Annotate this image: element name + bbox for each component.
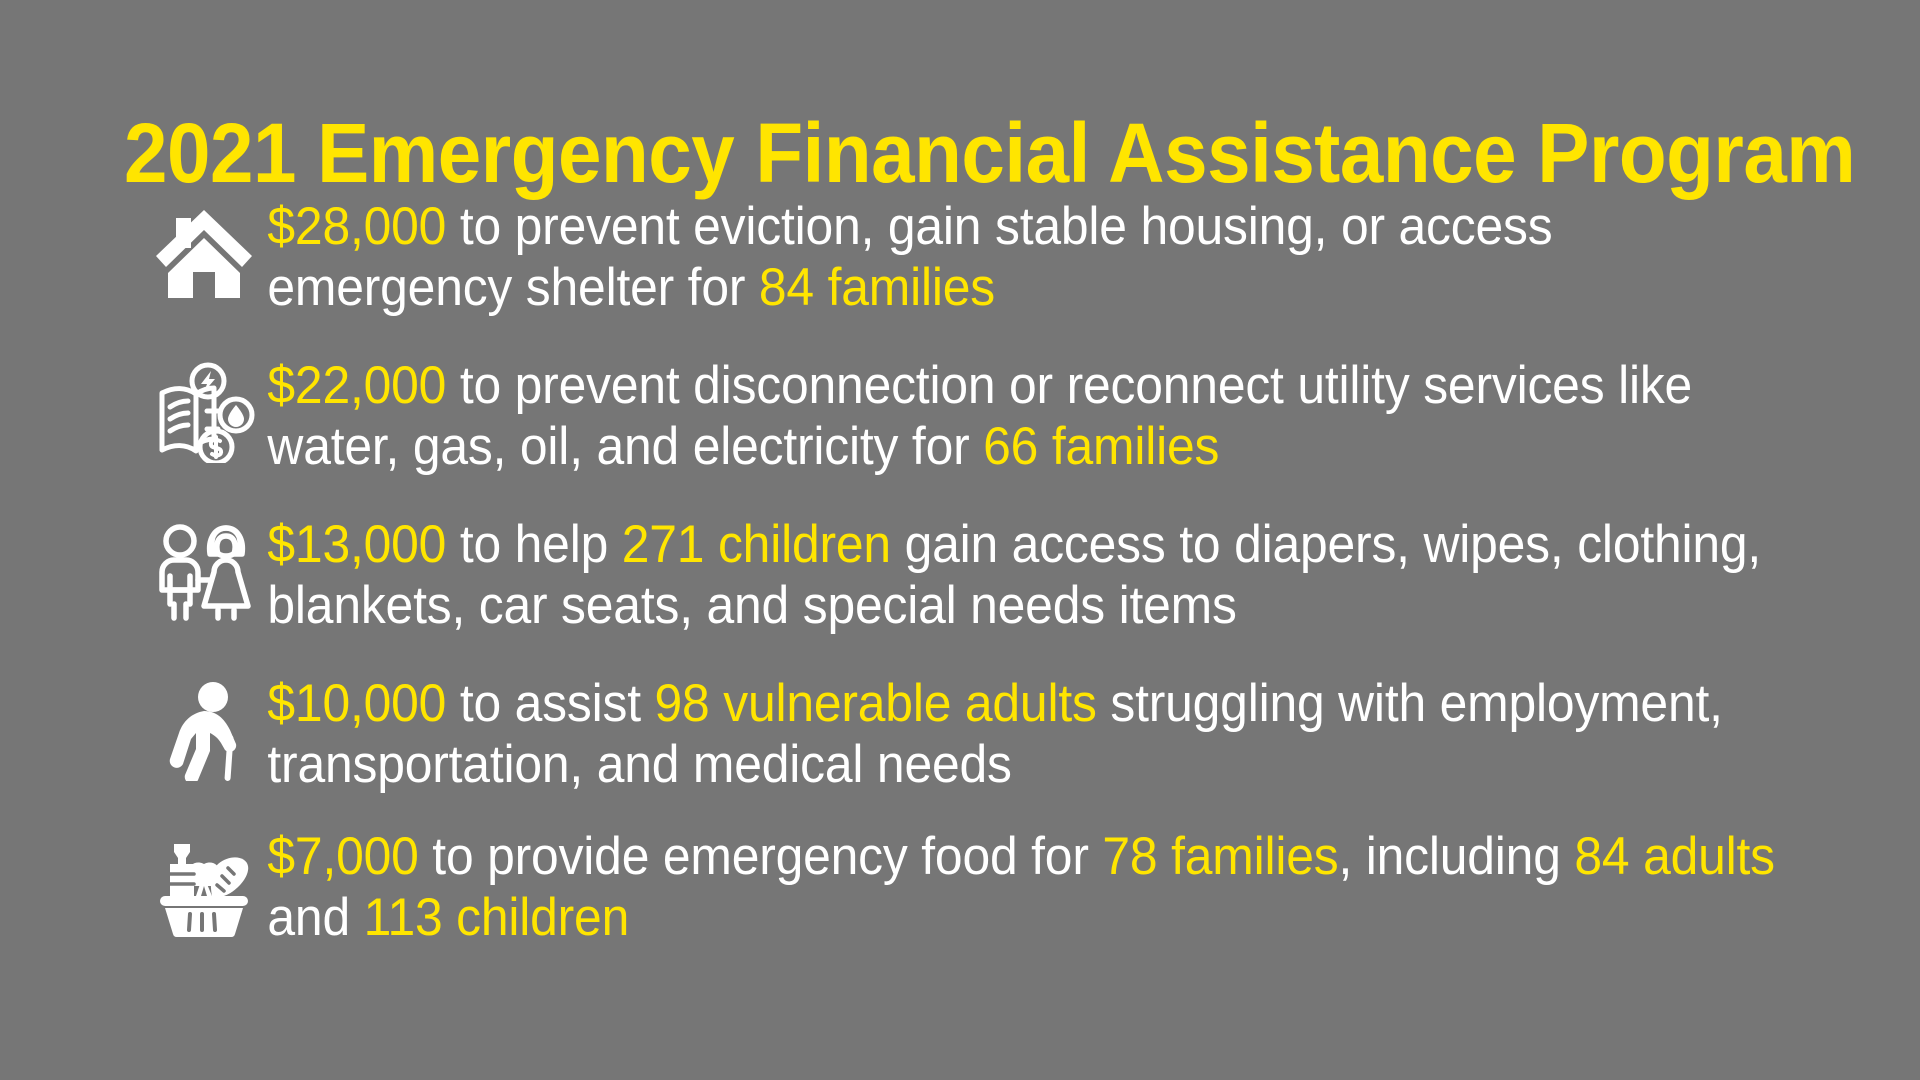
list-item-text: $10,000 to assist 98 vulnerable adults s… xyxy=(258,673,1792,796)
list-item-utilities: $22,000 to prevent disconnection or reco… xyxy=(150,355,1890,478)
elderly-person-icon xyxy=(150,677,258,785)
grocery-basket-icon xyxy=(150,832,258,940)
children-icon xyxy=(150,516,258,624)
amount-value: $28,000 xyxy=(267,197,446,256)
infographic-slide: 2021 Emergency Financial Assistance Prog… xyxy=(0,0,1920,1080)
amount-value: $22,000 xyxy=(267,356,446,415)
statistics-list: $28,000 to prevent eviction, gain stable… xyxy=(150,196,1890,949)
list-item-children: $13,000 to help 271 children gain access… xyxy=(150,514,1890,637)
highlight-segment-1: 78 families xyxy=(1102,827,1338,886)
highlight-segment-2: 84 adults xyxy=(1574,827,1775,886)
amount-value: $10,000 xyxy=(267,674,446,733)
highlight-segment-1: 271 children xyxy=(622,515,891,574)
list-item-food: $7,000 to provide emergency food for 78 … xyxy=(150,826,1890,949)
amount-value: $13,000 xyxy=(267,515,446,574)
list-item-housing: $28,000 to prevent eviction, gain stable… xyxy=(150,196,1890,319)
page-title: 2021 Emergency Financial Assistance Prog… xyxy=(124,111,1724,195)
text-segment-1: to provide emergency food for xyxy=(419,827,1103,886)
text-segment-1: to assist xyxy=(446,674,654,733)
text-segment-2: , including xyxy=(1338,827,1574,886)
text-segment-1: to help xyxy=(446,515,622,574)
house-icon xyxy=(150,200,258,308)
text-segment-1: to prevent disconnection or reconnect ut… xyxy=(267,356,1692,476)
list-item-text: $22,000 to prevent disconnection or reco… xyxy=(258,355,1792,478)
highlight-segment-1: 66 families xyxy=(983,417,1219,476)
highlight-segment-3: 113 children xyxy=(364,888,629,947)
list-item-text: $7,000 to provide emergency food for 78 … xyxy=(258,826,1792,949)
text-segment-3: and xyxy=(267,888,363,947)
utility-bill-icon xyxy=(150,357,258,465)
list-item-text: $28,000 to prevent eviction, gain stable… xyxy=(258,196,1792,319)
list-item-vulnerable-adults: $10,000 to assist 98 vulnerable adults s… xyxy=(150,673,1890,796)
highlight-segment-1: 84 families xyxy=(759,258,995,317)
amount-value: $7,000 xyxy=(267,827,418,886)
list-item-text: $13,000 to help 271 children gain access… xyxy=(258,514,1792,637)
highlight-segment-1: 98 vulnerable adults xyxy=(655,674,1097,733)
